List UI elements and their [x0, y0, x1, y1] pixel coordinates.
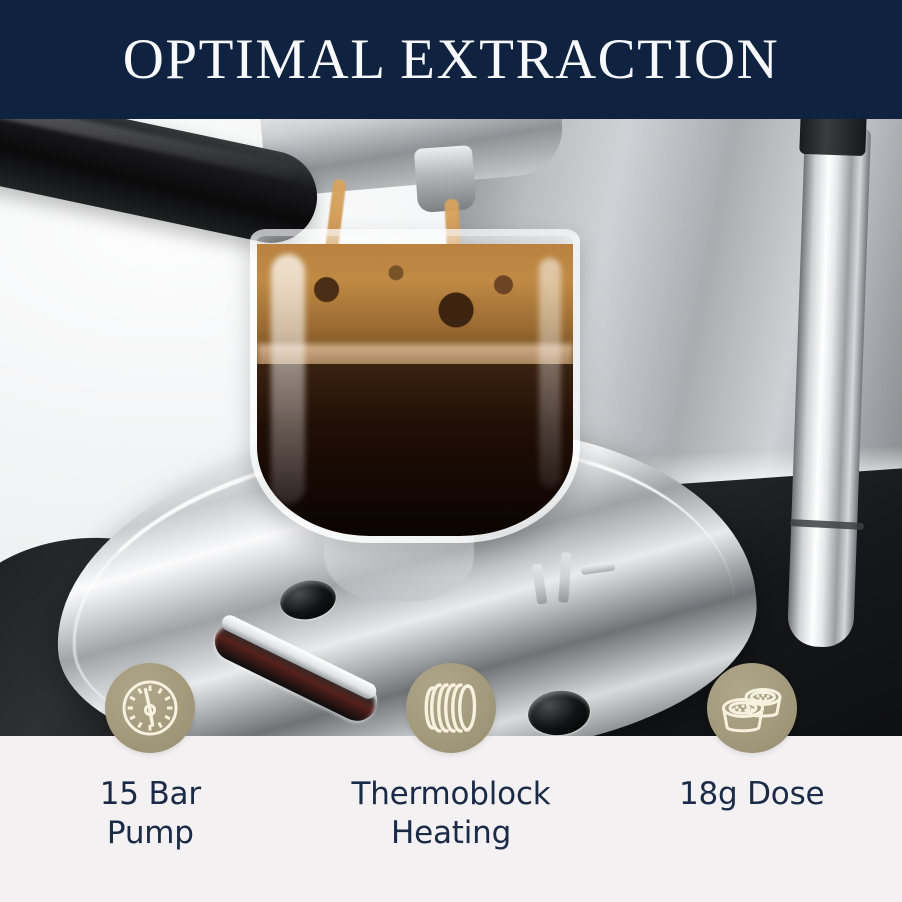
filter-baskets-icon [707, 663, 797, 753]
heating-coil-icon [406, 663, 496, 753]
feature-item-dose: 18g Dose [601, 663, 902, 902]
steam-wand-cap [799, 119, 866, 156]
pressure-gauge-icon [105, 663, 195, 753]
header-banner: OPTIMAL EXTRACTION [0, 0, 902, 119]
glass-cup [250, 229, 580, 543]
feature-list: 15 Bar Pump Thermoblock Heating [0, 663, 902, 902]
glass-highlight-left [271, 254, 305, 504]
feature-item-pump: 15 Bar Pump [0, 663, 301, 902]
product-photo [0, 119, 902, 736]
product-feature-card: OPTIMAL EXTRACTION [0, 0, 902, 902]
feature-label: Thermoblock Heating [351, 775, 550, 853]
page-title: OPTIMAL EXTRACTION [123, 31, 780, 88]
feature-label: 18g Dose [679, 775, 824, 814]
glass-highlight-right [539, 258, 561, 488]
feature-item-heating: Thermoblock Heating [301, 663, 602, 902]
feature-label: 15 Bar Pump [100, 775, 201, 853]
